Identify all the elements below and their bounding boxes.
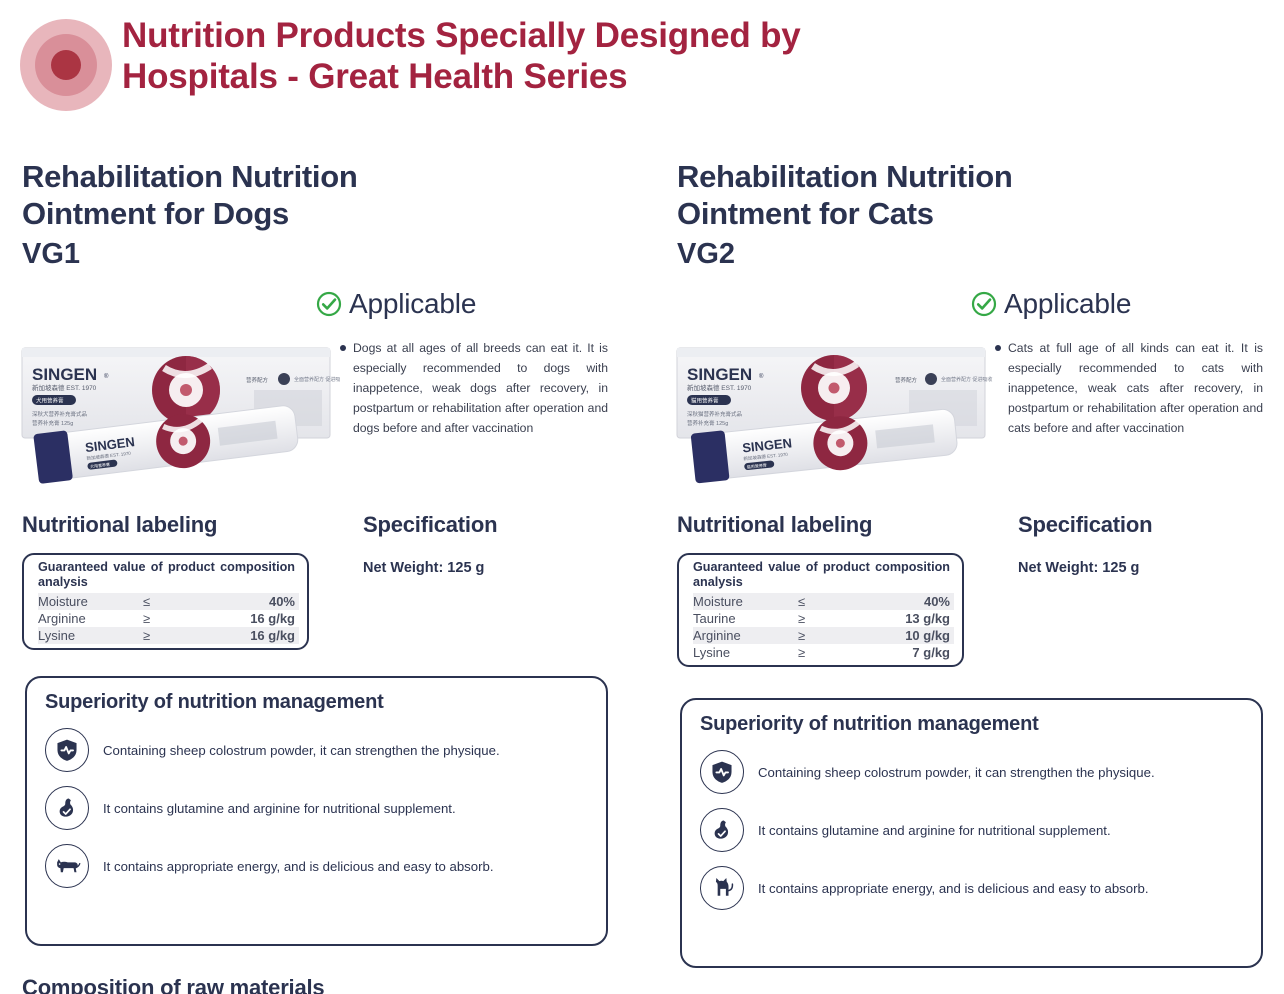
stomach-check-icon: [45, 786, 89, 830]
product-code-dog: VG1: [22, 238, 80, 271]
cat-ointment-product-photo: SINGEN ® 新加坡森德 EST. 1970 猫用营养膏 深秋猫营养补充膏式…: [669, 338, 995, 488]
svg-text:SINGEN: SINGEN: [32, 365, 97, 384]
specification-value-dog: Net Weight: 125 g: [363, 560, 484, 576]
applicable-description-text: Cats at full age of all kinds can eat it…: [995, 339, 1263, 438]
nutrient-value: 16 g/kg: [213, 628, 295, 643]
composition-heading-dog: Composition of raw materials: [22, 975, 442, 994]
svg-text:®: ®: [104, 373, 109, 380]
nutrient-operator: ≥: [143, 611, 213, 626]
product-title-cat: Rehabilitation Nutrition Ointment for Ca…: [677, 158, 1277, 232]
nutrient-name: Arginine: [693, 628, 798, 643]
applicable-badge-cat: Applicable: [971, 288, 1131, 320]
svg-text:营养补充膏 125g: 营养补充膏 125g: [32, 419, 73, 427]
superiority-item-text: It contains glutamine and arginine for n…: [758, 823, 1111, 838]
table-row: Taurine ≥ 13 g/kg: [693, 610, 954, 627]
product-column-cat: Rehabilitation Nutrition Ointment for Ca…: [655, 0, 1284, 994]
green-check-circle-icon: [316, 291, 342, 317]
table-row: Lysine ≥ 7 g/kg: [693, 644, 954, 661]
nutrient-name: Moisture: [693, 594, 798, 609]
nutrition-table-dog: Guaranteed value of product composition …: [22, 553, 309, 650]
svg-text:新加坡森德 EST. 1970: 新加坡森德 EST. 1970: [32, 383, 97, 392]
nutrition-table-cat: Guaranteed value of product composition …: [677, 553, 964, 667]
nutrient-operator: ≤: [798, 594, 868, 609]
applicable-description-text: Dogs at all ages of all breeds can eat i…: [340, 339, 608, 438]
product-code-cat: VG2: [677, 238, 735, 271]
product-title-line-2: Ointment for Cats: [677, 195, 1277, 232]
nutrient-value: 7 g/kg: [868, 645, 950, 660]
superiority-item: It contains appropriate energy, and is d…: [45, 844, 606, 888]
nutrient-value: 10 g/kg: [868, 628, 950, 643]
svg-text:®: ®: [759, 373, 764, 380]
applicable-badge-dog: Applicable: [316, 288, 476, 320]
nutrition-table-caption: Guaranteed value of product composition …: [693, 560, 954, 590]
nutrient-value: 40%: [213, 594, 295, 609]
superiority-panel-dog: Superiority of nutrition management Cont…: [25, 676, 608, 946]
dog-ointment-product-photo: SINGEN ® 新加坡森德 EST. 1970 犬用营养膏 深秋犬营养补充膏式…: [14, 338, 340, 488]
superiority-item-text: It contains appropriate energy, and is d…: [103, 859, 494, 874]
bullet-dot-icon: [995, 345, 1001, 351]
superiority-item: It contains glutamine and arginine for n…: [45, 786, 606, 830]
specification-value-cat: Net Weight: 125 g: [1018, 560, 1139, 576]
product-title-line-1: Rehabilitation Nutrition: [22, 158, 622, 195]
nutrient-value: 40%: [868, 594, 950, 609]
green-check-circle-icon: [971, 291, 997, 317]
product-title-line-2: Ointment for Dogs: [22, 195, 622, 232]
table-row: Arginine ≥ 16 g/kg: [38, 610, 299, 627]
nutrient-name: Moisture: [38, 594, 143, 609]
table-row: Moisture ≤ 40%: [38, 593, 299, 610]
specification-heading-dog: Specification: [363, 512, 497, 538]
shield-heartbeat-icon: [45, 728, 89, 772]
nutritional-labeling-heading-dog: Nutritional labeling: [22, 512, 217, 538]
nutrient-name: Taurine: [693, 611, 798, 626]
svg-text:营养配方: 营养配方: [895, 376, 918, 384]
superiority-item-text: It contains glutamine and arginine for n…: [103, 801, 456, 816]
nutrient-value: 13 g/kg: [868, 611, 950, 626]
specification-heading-cat: Specification: [1018, 512, 1152, 538]
shield-heartbeat-icon: [700, 750, 744, 794]
superiority-item-text: Containing sheep colostrum powder, it ca…: [103, 743, 500, 758]
nutrient-name: Lysine: [38, 628, 143, 643]
nutrient-operator: ≥: [798, 628, 868, 643]
nutrient-operator: ≥: [798, 611, 868, 626]
applicable-label: Applicable: [349, 288, 476, 320]
product-title-dog: Rehabilitation Nutrition Ointment for Do…: [22, 158, 622, 232]
applicable-description-cat: Cats at full age of all kinds can eat it…: [995, 339, 1263, 438]
dog-icon: [45, 844, 89, 888]
superiority-item: Containing sheep colostrum powder, it ca…: [700, 750, 1261, 794]
nutrient-name: Arginine: [38, 611, 143, 626]
nutrient-operator: ≤: [143, 594, 213, 609]
table-row: Moisture ≤ 40%: [693, 593, 954, 610]
superiority-heading: Superiority of nutrition management: [45, 691, 606, 714]
svg-text:深秋犬营养补充膏式品: 深秋犬营养补充膏式品: [32, 410, 88, 418]
applicable-label: Applicable: [1004, 288, 1131, 320]
nutrient-name: Lysine: [693, 645, 798, 660]
nutrient-value: 16 g/kg: [213, 611, 295, 626]
stomach-check-icon: [700, 808, 744, 852]
superiority-item: It contains glutamine and arginine for n…: [700, 808, 1261, 852]
svg-text:犬用营养膏: 犬用营养膏: [36, 397, 64, 405]
superiority-item: Containing sheep colostrum powder, it ca…: [45, 728, 606, 772]
svg-text:全面营养配方 促进吸收: 全面营养配方 促进吸收: [941, 376, 992, 383]
table-row: Arginine ≥ 10 g/kg: [693, 627, 954, 644]
svg-text:深秋猫营养补充膏式品: 深秋猫营养补充膏式品: [687, 410, 743, 418]
applicable-description-dog: Dogs at all ages of all breeds can eat i…: [340, 339, 608, 438]
superiority-heading: Superiority of nutrition management: [700, 713, 1261, 736]
nutrition-table-caption: Guaranteed value of product composition …: [38, 560, 299, 590]
product-column-dog: Rehabilitation Nutrition Ointment for Do…: [0, 0, 645, 994]
nutrient-operator: ≥: [143, 628, 213, 643]
svg-text:新加坡森德 EST. 1970: 新加坡森德 EST. 1970: [687, 383, 752, 392]
svg-text:SINGEN: SINGEN: [687, 365, 752, 384]
product-title-line-1: Rehabilitation Nutrition: [677, 158, 1277, 195]
nutritional-labeling-heading-cat: Nutritional labeling: [677, 512, 872, 538]
svg-text:营养配方: 营养配方: [246, 376, 269, 384]
svg-text:猫用营养膏: 猫用营养膏: [691, 397, 719, 405]
svg-text:营养补充膏 125g: 营养补充膏 125g: [687, 419, 728, 427]
superiority-panel-cat: Superiority of nutrition management Cont…: [680, 698, 1263, 968]
bullet-dot-icon: [340, 345, 346, 351]
superiority-item-text: It contains appropriate energy, and is d…: [758, 881, 1149, 896]
cat-icon: [700, 866, 744, 910]
superiority-item: It contains appropriate energy, and is d…: [700, 866, 1261, 910]
nutrient-operator: ≥: [798, 645, 868, 660]
svg-text:全面营养配方 促进吸收: 全面营养配方 促进吸收: [294, 376, 340, 383]
table-row: Lysine ≥ 16 g/kg: [38, 627, 299, 644]
superiority-item-text: Containing sheep colostrum powder, it ca…: [758, 765, 1155, 780]
